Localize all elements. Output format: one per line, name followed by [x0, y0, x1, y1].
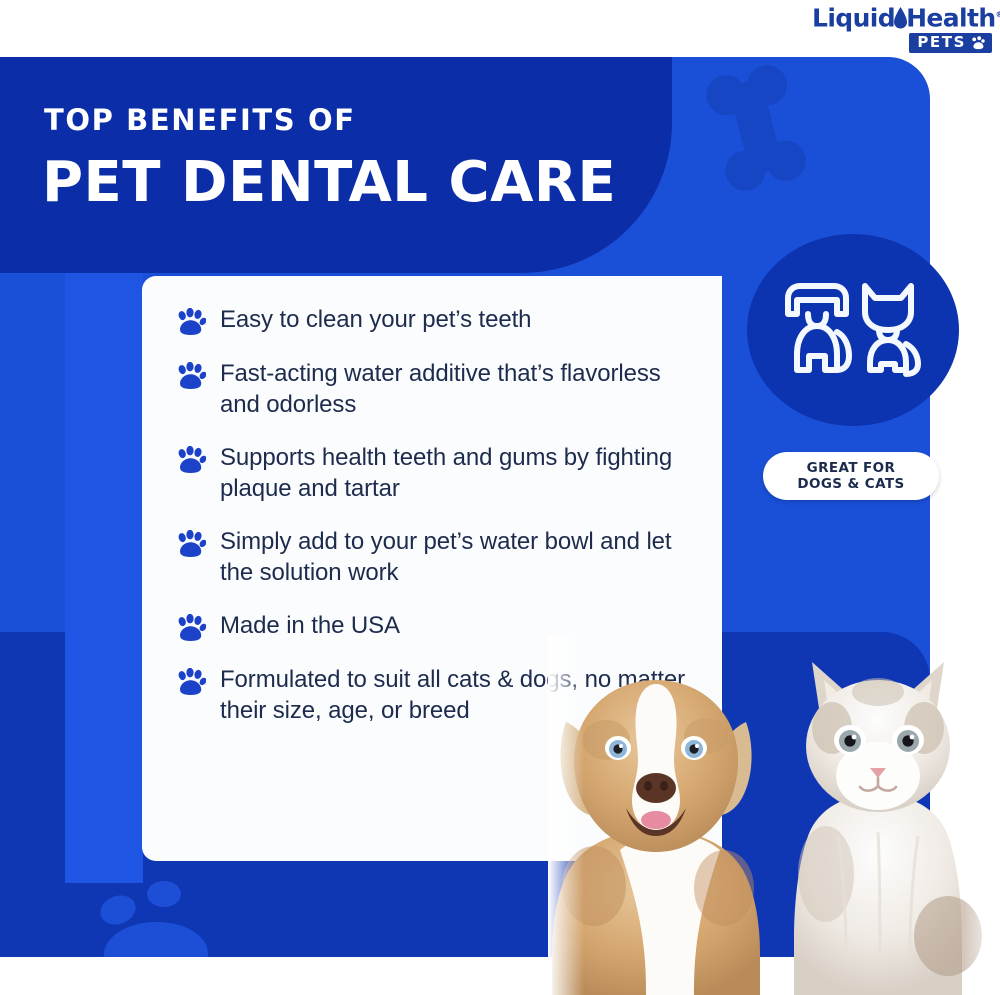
benefit-text: Supports health teeth and gums by fighti…	[220, 442, 696, 504]
logo-word-liquid: Liquid	[812, 3, 895, 32]
dog-and-cat-outline-icon	[773, 276, 933, 384]
paw-icon	[176, 530, 206, 558]
benefit-text: Simply add to your pet’s water bowl and …	[220, 526, 696, 588]
list-item: Easy to clean your pet’s teeth	[176, 304, 696, 336]
logo-pets-badge: PETS	[909, 33, 992, 53]
header-band: TOP BENEFITS OF PET DENTAL CARE	[0, 57, 672, 273]
paw-watermark-icon-bottom-left	[60, 872, 290, 957]
logo-wordmark: Liquid Health®	[812, 2, 1000, 30]
status-badge: GREAT FOR DOGS & CATS	[763, 452, 939, 500]
pets-photo	[548, 636, 1000, 995]
water-drop-icon	[894, 7, 907, 29]
paw-icon	[176, 362, 206, 390]
header-kicker: TOP BENEFITS OF	[44, 105, 356, 135]
pill-line-1: GREAT FOR	[807, 460, 896, 476]
logo-word-health: Health	[906, 3, 995, 32]
paw-icon	[176, 668, 206, 696]
left-accent-strip	[65, 273, 143, 883]
list-item: Fast-acting water additive that’s flavor…	[176, 358, 696, 420]
paw-icon	[176, 446, 206, 474]
paw-icon	[971, 36, 985, 50]
paw-icon	[176, 614, 206, 642]
logo-pets-text: PETS	[917, 35, 966, 50]
cat-illustration	[794, 662, 982, 995]
infographic-root: TOP BENEFITS OF PET DENTAL CARE	[0, 0, 1000, 995]
list-item: Simply add to your pet’s water bowl and …	[176, 526, 696, 588]
list-item: Supports health teeth and gums by fighti…	[176, 442, 696, 504]
paw-icon	[176, 308, 206, 336]
bone-watermark-icon	[705, 62, 815, 192]
benefit-text: Made in the USA	[220, 610, 400, 641]
page-title: PET DENTAL CARE	[42, 153, 616, 213]
logo-trademark: ®	[996, 10, 1000, 19]
pill-line-2: DOGS & CATS	[797, 476, 904, 492]
benefit-text: Easy to clean your pet’s teeth	[220, 304, 531, 335]
great-for-badge-circle	[747, 234, 959, 426]
brand-logo[interactable]: Liquid Health® PETS	[812, 2, 992, 48]
benefit-text: Fast-acting water additive that’s flavor…	[220, 358, 696, 420]
